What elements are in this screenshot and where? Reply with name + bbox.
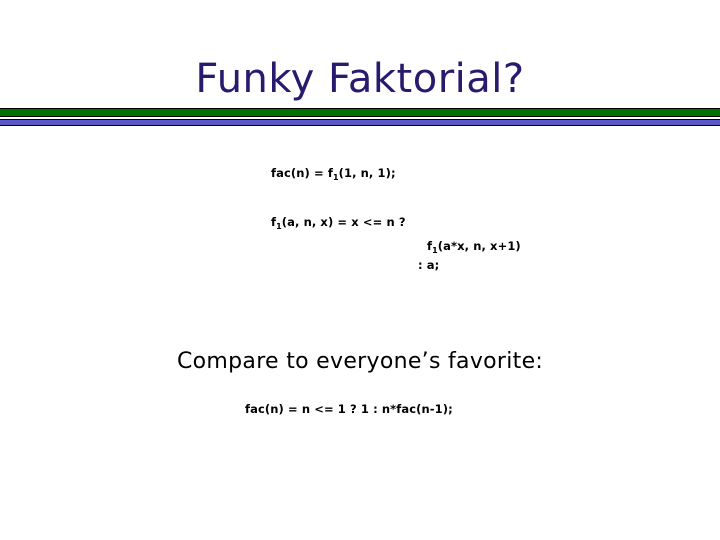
subscript-1: 1 xyxy=(432,246,438,255)
page-title: Funky Faktorial? xyxy=(0,55,720,103)
code-text-rest: (1, n, 1); xyxy=(339,166,396,180)
code-line-classic-factorial: fac(n) = n <= 1 ? 1 : n*fac(n-1); xyxy=(245,402,453,417)
subscript-1: 1 xyxy=(333,173,339,182)
code-text-rest: (a, n, x) = x <= n ? xyxy=(282,215,406,229)
divider-green-band xyxy=(0,108,720,117)
code-text: fac(n) = f xyxy=(271,166,333,180)
code-text-rest: (a*x, n, x+1) xyxy=(438,239,521,253)
code-line-base-case: : a; xyxy=(418,258,439,273)
title-divider xyxy=(0,108,720,126)
divider-blue-band xyxy=(0,119,720,126)
code-line-f1-recursive-call: f1(a*x, n, x+1) xyxy=(427,239,521,254)
subscript-1: 1 xyxy=(276,222,282,231)
compare-heading: Compare to everyone’s favorite: xyxy=(177,348,543,376)
presentation-slide: Funky Faktorial? fac(n) = f1(1, n, 1); f… xyxy=(0,0,720,540)
code-line-fac-definition: fac(n) = f1(1, n, 1); xyxy=(271,166,396,181)
code-line-f1-signature: f1(a, n, x) = x <= n ? xyxy=(271,215,406,230)
